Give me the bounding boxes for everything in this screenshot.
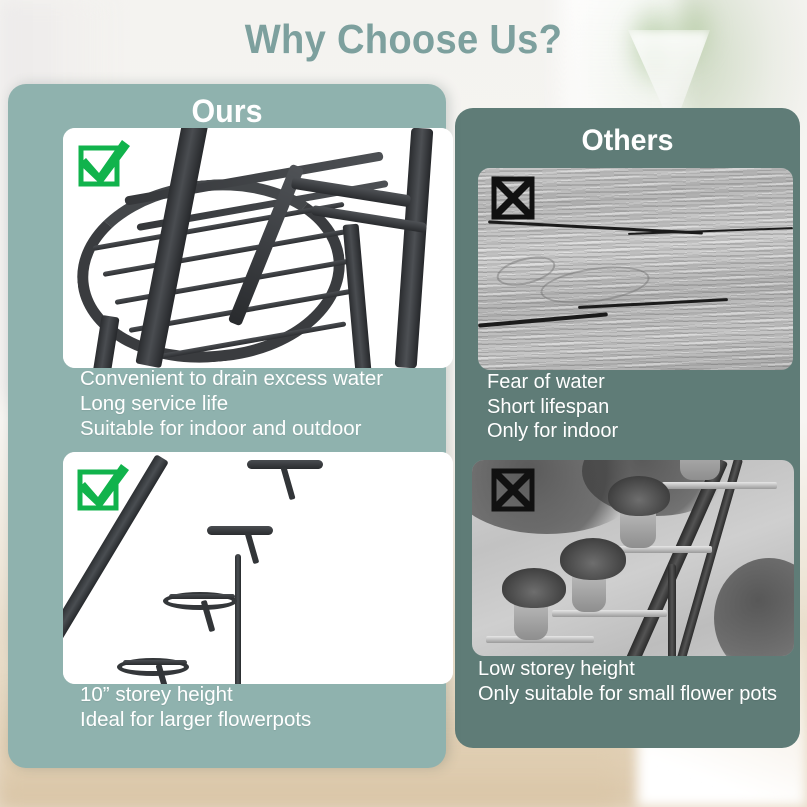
- others-line: Only for indoor: [487, 419, 618, 444]
- others-text-block-2: Low storey height Only suitable for smal…: [478, 657, 777, 706]
- ours-text-block-2: 10” storey height Ideal for larger flowe…: [80, 682, 311, 732]
- panel-ours-heading: Ours: [19, 93, 435, 130]
- others-text-block-1: Fear of water Short lifespan Only for in…: [487, 370, 618, 444]
- green-check-icon: [75, 138, 133, 192]
- others-line: Only suitable for small flower pots: [478, 682, 777, 707]
- ours-text-block-1: Convenient to drain excess water Long se…: [80, 366, 383, 441]
- black-x-icon: [489, 174, 537, 222]
- black-x-icon: [489, 466, 537, 514]
- infographic-root: Why Choose Us? Others Fear of water Shor…: [0, 0, 807, 807]
- ours-line: Ideal for larger flowerpots: [80, 707, 311, 732]
- ours-line: Long service life: [80, 391, 383, 416]
- ours-line: 10” storey height: [80, 682, 311, 707]
- others-line: Short lifespan: [487, 395, 618, 420]
- ours-line: Convenient to drain excess water: [80, 366, 383, 391]
- panel-others-heading: Others: [464, 124, 792, 158]
- page-title: Why Choose Us?: [28, 16, 779, 63]
- green-check-icon: [74, 462, 132, 516]
- ours-line: Suitable for indoor and outdoor: [80, 416, 383, 441]
- others-line: Fear of water: [487, 370, 618, 395]
- others-line: Low storey height: [478, 657, 777, 682]
